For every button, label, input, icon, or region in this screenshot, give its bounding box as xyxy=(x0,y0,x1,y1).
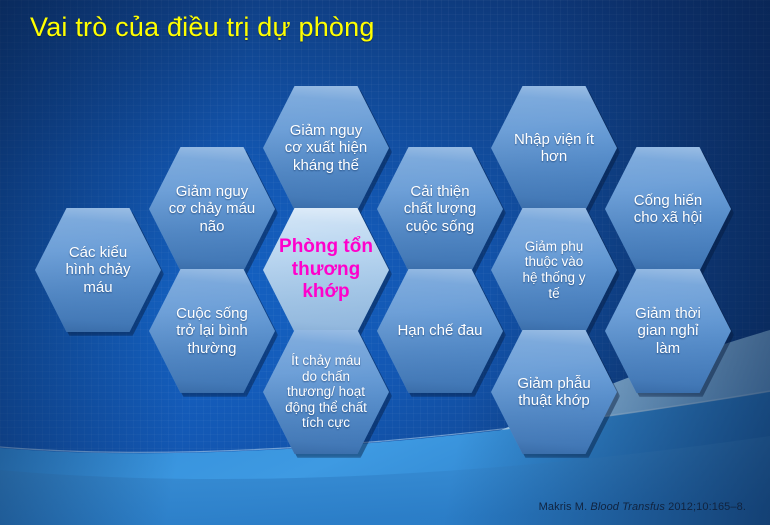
hex-label: Giảm thời gian nghỉ làm xyxy=(622,305,714,357)
hex-label: Giảm nguy cơ chảy máu não xyxy=(156,183,269,235)
hexagon-honeycomb: Các kiểu hình chảy máu Giảm nguy cơ chảy… xyxy=(0,0,770,525)
hex-label: Giảm phẫu thuật khớp xyxy=(504,375,603,410)
citation-author: Makris M. xyxy=(539,501,588,513)
hex-label: Cải thiện chất lượng cuộc sống xyxy=(391,183,489,235)
hex-label: Hạn chế đau xyxy=(384,322,495,339)
slide-canvas: Vai trò của điều trị dự phòng Các kiểu h… xyxy=(0,0,770,525)
hex-label: Nhập viện ít hơn xyxy=(501,131,607,166)
citation-journal: Blood Transfus xyxy=(590,501,665,513)
hex-label: Cuộc sống trở lại bình thường xyxy=(163,305,261,357)
hex-label: Phòng tổn thương khớp xyxy=(266,236,386,304)
hex-label: Các kiểu hình chảy máu xyxy=(52,244,143,296)
hex-label: Giảm nguy cơ xuất hiện kháng thể xyxy=(272,122,380,174)
citation: Makris M. Blood Transfus 2012;10:165–8. xyxy=(539,501,746,513)
citation-reference: 2012;10:165–8. xyxy=(668,501,746,513)
hex-label: Cống hiến cho xã hội xyxy=(621,192,715,227)
hex-label: Giảm phụ thuộc vào hệ thống y tế xyxy=(509,239,598,301)
hex-label: Ít chảy máu do chấn thương/ hoạt động th… xyxy=(272,353,380,431)
